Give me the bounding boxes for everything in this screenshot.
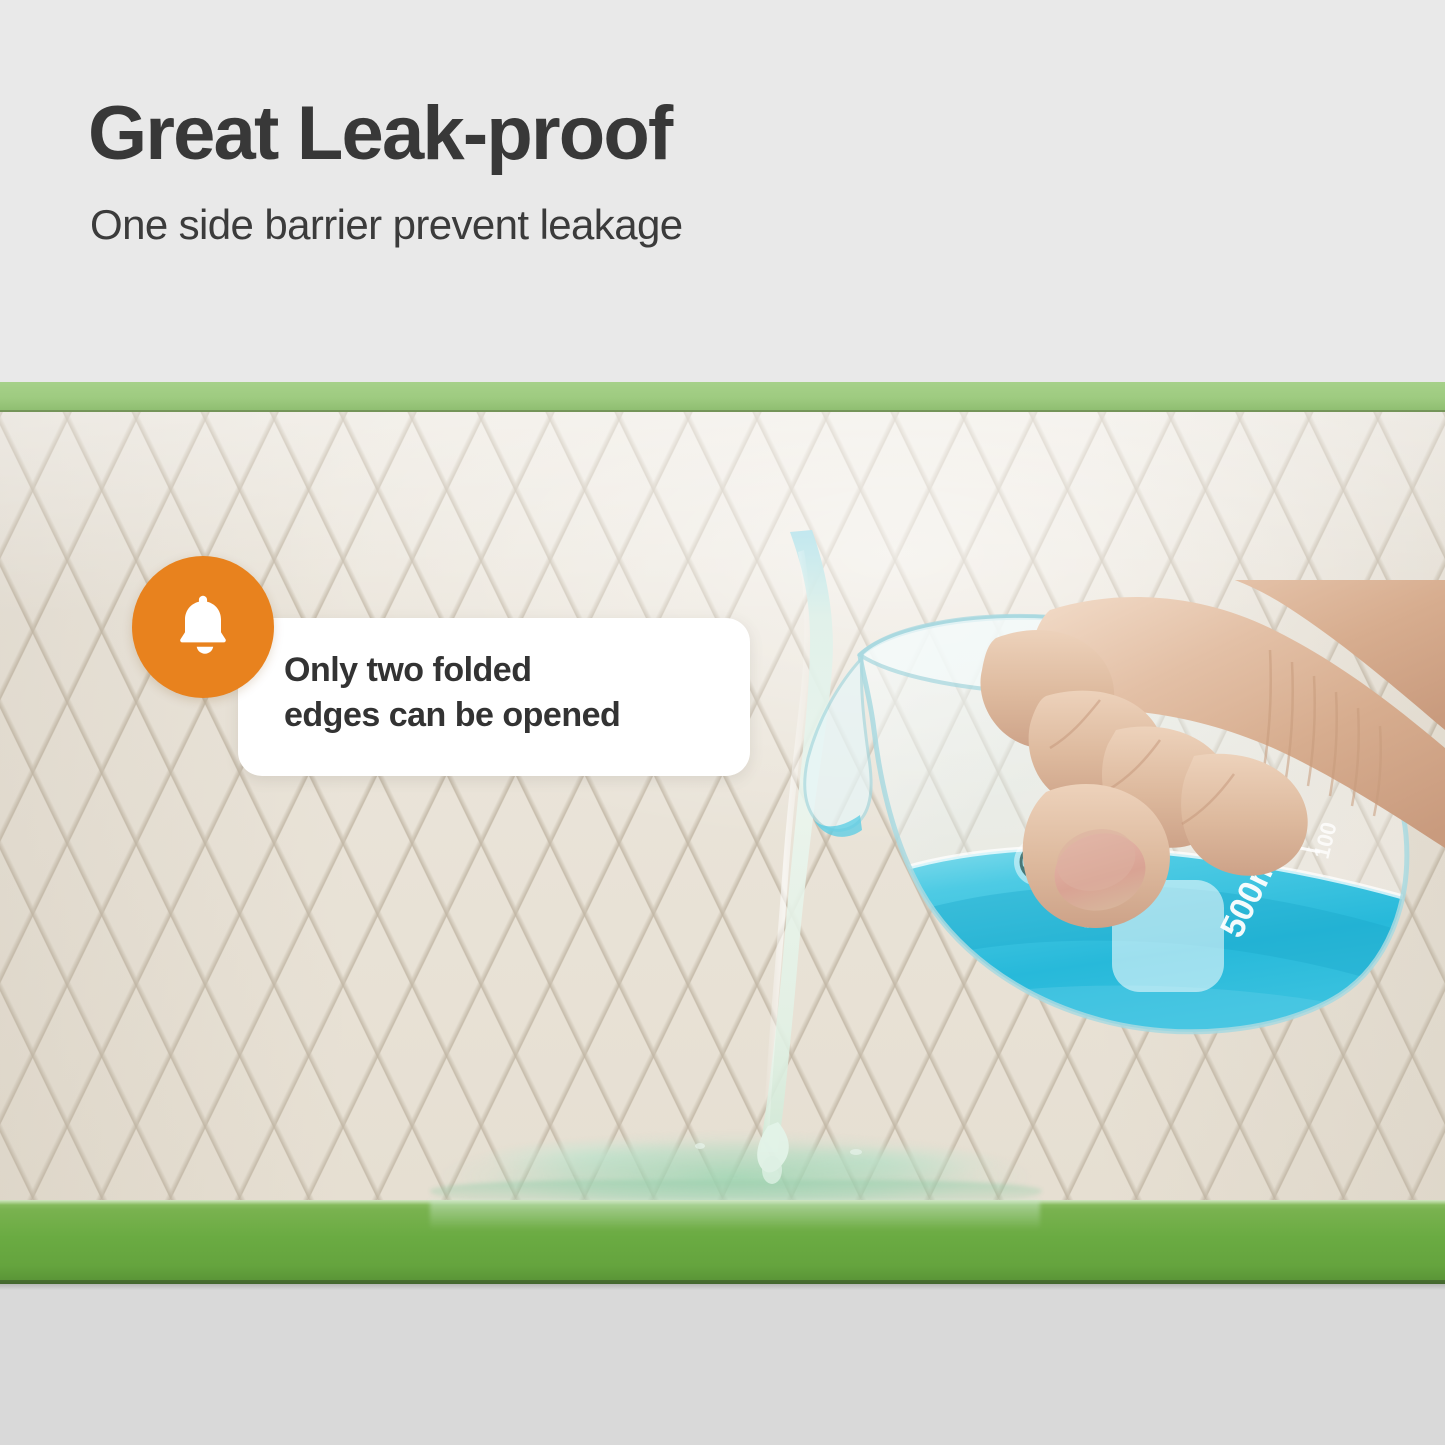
callout-line-1: Only two folded: [284, 651, 531, 689]
product-feature-image: 500 APPROX 300 200 100 GG-17 500ml: [0, 0, 1445, 1445]
bell-icon: [167, 591, 239, 663]
beaker-with-hand: 500 APPROX 300 200 100 GG-17 500ml: [800, 580, 1445, 1140]
barrier-wet-sheen: [430, 1200, 1040, 1230]
mat-back-edge: [0, 380, 1445, 413]
callout-text: Only two folded edges can be opened: [284, 648, 724, 738]
footer-band: [0, 1284, 1445, 1445]
header-band: [0, 0, 1445, 382]
callout-line-2: edges can be opened: [284, 696, 620, 734]
callout-card: Only two folded edges can be opened: [238, 618, 750, 776]
callout-badge: [132, 556, 274, 698]
page-title: Great Leak-proof: [88, 96, 672, 172]
page-subtitle: One side barrier prevent leakage: [90, 204, 683, 246]
product-photo: 500 APPROX 300 200 100 GG-17 500ml: [0, 380, 1445, 1285]
